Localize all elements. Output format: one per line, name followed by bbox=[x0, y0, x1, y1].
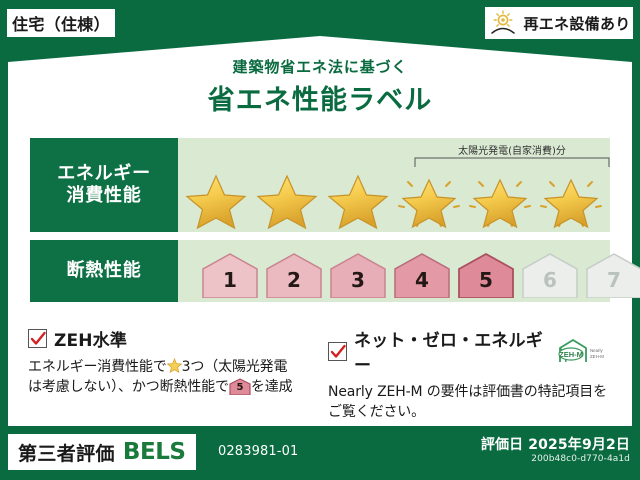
svg-text:ZEH-M: ZEH-M bbox=[559, 350, 583, 359]
building-type-badge: 住宅（住棟） bbox=[6, 8, 116, 38]
insulation-level-7-number: 7 bbox=[584, 268, 640, 292]
insulation-level-6-number: 6 bbox=[520, 268, 580, 292]
zeh-desc-part4: を達成 bbox=[251, 379, 293, 395]
star-filled-1 bbox=[182, 170, 250, 230]
net-zero-energy-block: ネット・ゼロ・エネルギー ZEH-M Nearly ZEH-M Nearly Z… bbox=[328, 326, 616, 423]
svg-text:Nearly: Nearly bbox=[590, 348, 603, 353]
star-filled-2 bbox=[253, 170, 321, 230]
insulation-level-7: 7 bbox=[584, 252, 640, 298]
net-zero-energy-heading: ネット・ゼロ・エネルギー ZEH-M Nearly ZEH-M bbox=[328, 326, 616, 376]
net-zero-energy-checkbox bbox=[328, 342, 347, 361]
page-title: 省エネ性能ラベル bbox=[0, 78, 640, 117]
zeh-standard-block: ZEH水準 エネルギー消費性能で3つ（太陽光発電は考慮しない）、かつ断熱性能で5… bbox=[28, 326, 316, 398]
insulation-level-1-number: 1 bbox=[200, 268, 260, 292]
solar-bracket-shape bbox=[414, 156, 610, 168]
bels-logo: BELS bbox=[123, 439, 186, 465]
zeh-standard-heading: ZEH水準 bbox=[28, 326, 316, 351]
zeh-desc-part2: 3つ（太陽光発電 bbox=[182, 359, 288, 375]
zeh-desc-part3: は考慮しない）、かつ断熱性能で bbox=[28, 379, 229, 395]
zeh-m-logo-icon: ZEH-M Nearly ZEH-M bbox=[556, 338, 616, 364]
svg-text:ZEH-M: ZEH-M bbox=[590, 354, 604, 359]
star-icon bbox=[167, 358, 182, 373]
insulation-level-6: 6 bbox=[520, 252, 580, 298]
star-solar-5 bbox=[466, 170, 534, 230]
energy-rating-area: 太陽光発電(自家消費)分 bbox=[178, 138, 610, 232]
bels-evaluation-box: 第三者評価 BELS bbox=[8, 434, 196, 470]
renewable-equipment-label: 再エネ設備あり bbox=[523, 13, 630, 34]
zeh-standard-checkbox bbox=[28, 329, 47, 348]
inline-house-icon: 5 bbox=[229, 378, 251, 395]
energy-performance-label-box: エネルギー 消費性能 bbox=[30, 138, 178, 232]
insulation-label: 断熱性能 bbox=[67, 260, 142, 283]
insulation-level-4-number: 4 bbox=[392, 268, 452, 292]
insulation-rating-area: 1 2 3 4 5 bbox=[178, 240, 610, 302]
evaluation-date: 評価日 2025年9月2日 bbox=[481, 434, 630, 454]
star-solar-6 bbox=[537, 170, 605, 230]
building-type-label: 住宅（住棟） bbox=[12, 11, 110, 35]
star-rating bbox=[178, 168, 610, 230]
insulation-level-3-number: 3 bbox=[328, 268, 388, 292]
star-solar-4 bbox=[395, 170, 463, 230]
energy-label-line1: エネルギー bbox=[57, 163, 151, 186]
evaluation-hash: 200b48c0-d770-4a1d bbox=[531, 454, 630, 464]
bels-number: 0283981-01 bbox=[218, 444, 298, 459]
insulation-level-1: 1 bbox=[200, 252, 260, 298]
energy-performance-row: エネルギー 消費性能 太陽光発電(自家消費)分 bbox=[30, 138, 610, 232]
label-subtitle: 建築物省エネ法に基づく bbox=[0, 56, 640, 77]
insulation-level-5-number: 5 bbox=[456, 268, 516, 292]
insulation-level-2-number: 2 bbox=[264, 268, 324, 292]
energy-performance-label: 住宅（住棟） 再エネ設備あり 建築物省エネ法に基づく bbox=[0, 0, 640, 480]
insulation-level-4: 4 bbox=[392, 252, 452, 298]
zeh-standard-description: エネルギー消費性能で3つ（太陽光発電は考慮しない）、かつ断熱性能で5を達成 bbox=[28, 357, 316, 398]
zeh-desc-part1: エネルギー消費性能で bbox=[28, 359, 167, 375]
energy-label-line2: 消費性能 bbox=[67, 185, 142, 208]
net-zero-energy-description: Nearly ZEH-M の要件は評価書の特記項目をご覧ください。 bbox=[328, 382, 616, 423]
third-party-evaluation-label: 第三者評価 bbox=[18, 439, 115, 466]
solar-annotation: 太陽光発電(自家消費)分 bbox=[414, 142, 610, 170]
inline-house-number: 5 bbox=[229, 381, 251, 396]
zeh-standard-title: ZEH水準 bbox=[54, 326, 127, 351]
footer-band: 第三者評価 BELS 0283981-01 評価日 2025年9月2日 200b… bbox=[0, 428, 640, 480]
check-icon bbox=[330, 344, 346, 360]
check-icon bbox=[30, 331, 46, 347]
renewable-equipment-badge: 再エネ設備あり bbox=[484, 6, 634, 40]
net-zero-energy-title: ネット・ゼロ・エネルギー bbox=[354, 326, 549, 376]
solar-annotation-label: 太陽光発電(自家消費)分 bbox=[414, 142, 610, 157]
star-filled-3 bbox=[324, 170, 392, 230]
insulation-level-scale: 1 2 3 4 5 bbox=[200, 252, 640, 298]
insulation-level-2: 2 bbox=[264, 252, 324, 298]
insulation-level-3: 3 bbox=[328, 252, 388, 298]
insulation-performance-label-box: 断熱性能 bbox=[30, 240, 178, 302]
insulation-level-5: 5 bbox=[456, 252, 516, 298]
insulation-performance-row: 断熱性能 1 2 3 4 bbox=[30, 240, 610, 302]
sun-icon bbox=[489, 9, 519, 37]
